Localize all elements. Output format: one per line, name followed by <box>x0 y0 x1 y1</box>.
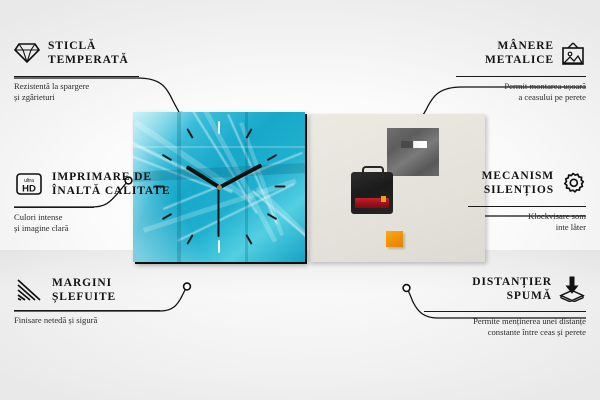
callout-rule <box>468 206 586 207</box>
callout-desc-line2: constante între ceas și perete <box>376 327 586 338</box>
callout-title-line1: IMPRIMARE DE <box>52 171 170 185</box>
callout-title-line1: DISTANȚIER <box>472 276 552 290</box>
callout-metal-handles: MÂNERE METALICE Permit montarea ușoară a… <box>396 40 586 102</box>
callout-rule <box>424 311 586 312</box>
callout-rule <box>456 76 586 77</box>
callout-title-line1: MECANISM <box>482 170 554 184</box>
callout-desc-line1: Permite menținerea unei distanțe <box>376 316 586 327</box>
callout-title-line2: SPUMĂ <box>472 290 552 304</box>
callout-desc-line1: Culori intense <box>14 212 214 223</box>
callout-desc-line2: inte låter <box>396 222 586 233</box>
diagonal-lines-icon <box>16 279 42 306</box>
foam-spacer-block <box>386 231 403 247</box>
second-hand <box>218 187 220 237</box>
callout-tempered-glass: STICLĂ TEMPERATĂ Rezistentă la spargere … <box>14 40 204 102</box>
gear-icon <box>560 171 586 200</box>
callout-desc-line1: Permit montarea ușoară <box>396 81 586 92</box>
hanger-slot <box>401 141 427 148</box>
callout-foam-spacer: DISTANȚIER SPUMĂ Permite menținerea unei… <box>376 276 586 337</box>
press-down-icon <box>558 276 586 307</box>
callout-title-line1: MARGINI <box>52 277 116 291</box>
callout-desc-line2: și zgârieturi <box>14 92 204 103</box>
callout-silent-mechanism: MECANISM SILENȚIOS Klockvisare som inte … <box>396 170 586 232</box>
battery-tip <box>381 196 386 202</box>
metal-hanger <box>387 128 439 176</box>
callout-title-line2: ÎNALTĂ CALITATE <box>52 185 170 199</box>
callout-desc-line1: Rezistentă la spargere <box>14 81 204 92</box>
callout-desc-line2: a ceasului pe perete <box>396 92 586 103</box>
callout-desc-line1: Finisare netedă și sigură <box>14 315 214 326</box>
callout-rule <box>14 207 94 208</box>
callout-rule <box>14 76 139 77</box>
clock-movement <box>351 172 393 214</box>
callout-rule <box>14 310 160 311</box>
ultra-hd-icon: ultra HD <box>16 173 42 200</box>
callout-desc-line1: Klockvisare som <box>396 211 586 222</box>
callout-print-quality: ultra HD IMPRIMARE DE ÎNALTĂ CALITATE Cu… <box>14 171 214 233</box>
callout-title-line2: SILENȚIOS <box>482 184 554 198</box>
infographic-canvas: STICLĂ TEMPERATĂ Rezistentă la spargere … <box>0 0 600 400</box>
movement-bail <box>362 166 384 178</box>
callout-title-line1: STICLĂ <box>48 40 129 54</box>
callout-title-line2: TEMPERATĂ <box>48 54 129 68</box>
framed-picture-icon <box>560 42 586 71</box>
callout-polished-edges: MARGINI ȘLEFUITE Finisare netedă și sigu… <box>14 277 214 326</box>
callout-title-line1: MÂNERE <box>485 40 554 54</box>
callout-title-line2: ȘLEFUITE <box>52 291 116 305</box>
hands-cap <box>217 185 222 190</box>
diamond-icon <box>14 42 40 69</box>
svg-text:HD: HD <box>22 184 36 195</box>
callout-title-line2: METALICE <box>485 54 554 68</box>
callout-desc-line2: și imagine clară <box>14 223 214 234</box>
